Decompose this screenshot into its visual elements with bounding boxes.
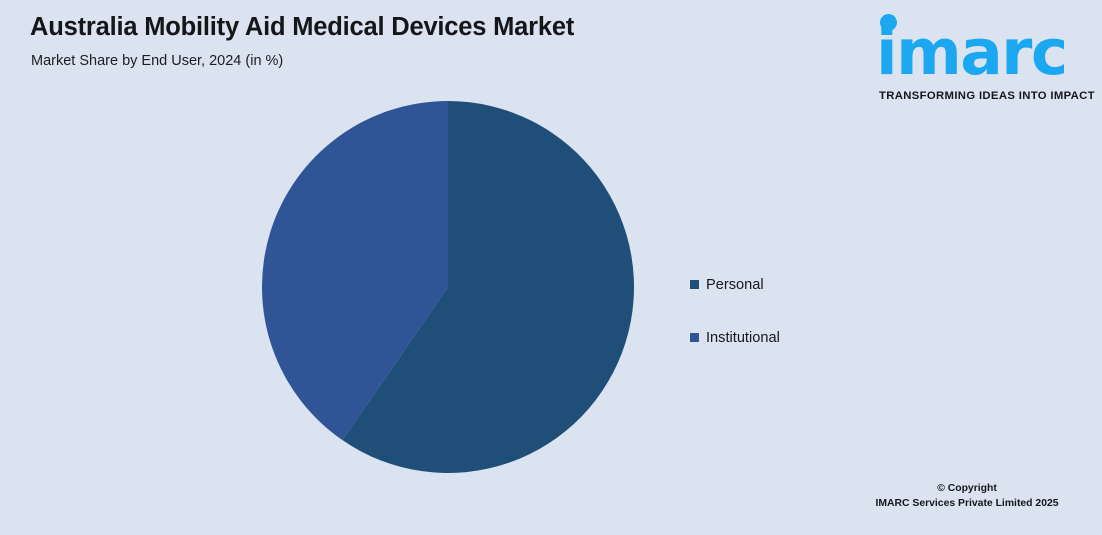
legend-item-institutional[interactable]: Institutional bbox=[690, 327, 890, 348]
legend-item-label: Personal bbox=[706, 277, 764, 293]
copyright-line-2: IMARC Services Private Limited 2025 bbox=[842, 497, 1092, 512]
logo-wordmark: imarc bbox=[876, 21, 1067, 84]
pie-chart bbox=[262, 101, 634, 473]
logo-tagline: TRANSFORMING IDEAS INTO IMPACT bbox=[879, 90, 1095, 102]
chart-subtitle: Market Share by End User, 2024 (in %) bbox=[31, 53, 283, 69]
chart-canvas: Australia Mobility Aid Medical Devices M… bbox=[0, 0, 1102, 535]
imarc-logo: imarc TRANSFORMING IDEAS INTO IMPACT bbox=[876, 9, 1092, 97]
page-title: Australia Mobility Aid Medical Devices M… bbox=[30, 13, 574, 42]
pie-slice-group bbox=[262, 101, 634, 473]
legend-item-personal[interactable]: Personal bbox=[690, 274, 890, 295]
copyright-line-1: © Copyright bbox=[842, 482, 1092, 497]
legend-swatch-icon bbox=[690, 333, 699, 342]
legend-swatch-icon bbox=[690, 280, 699, 289]
chart-legend: Personal Institutional bbox=[690, 274, 890, 380]
legend-item-label: Institutional bbox=[706, 330, 780, 346]
copyright-footer: © Copyright IMARC Services Private Limit… bbox=[842, 482, 1092, 511]
pie-chart-svg bbox=[262, 101, 634, 473]
